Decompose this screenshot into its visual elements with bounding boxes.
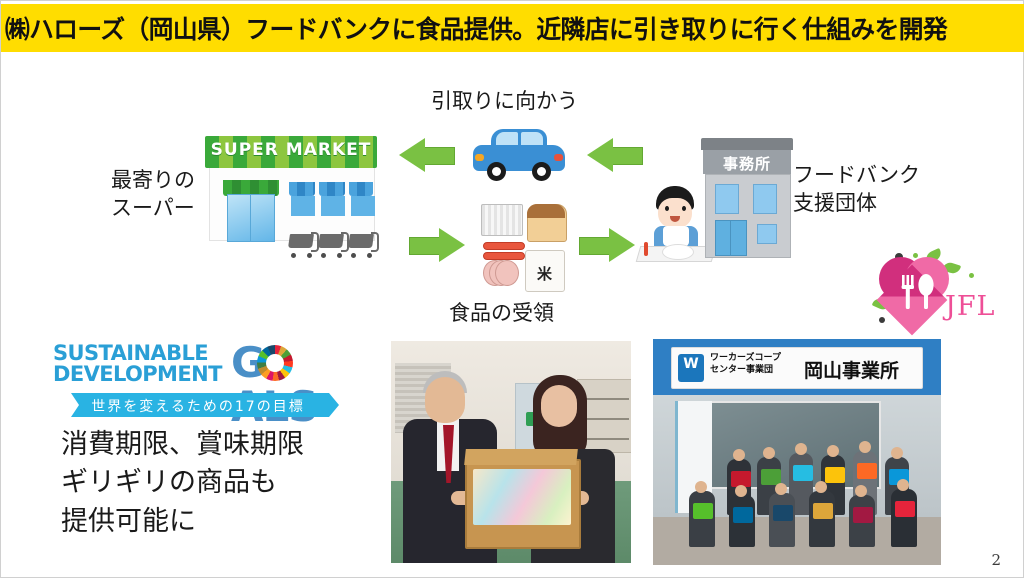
diagram-label-foodbank: フードバンク 支援団体: [793, 161, 920, 218]
heart-icon: [879, 257, 953, 323]
ham-slices-icon: [483, 260, 519, 286]
photo-handover-alt: 段ボール箱に入った食品を手渡す男性と女性: [391, 547, 631, 560]
photo-group: W ワーカーズコープ センター事業団 岡山事業所: [653, 339, 941, 565]
sdgs-tagline: 世界を変えるための17の目標: [71, 396, 325, 416]
supermarket-window-3: [351, 196, 375, 216]
diagram-label-haul: 引取りに向かう: [431, 87, 578, 115]
rice-bag-icon: 米: [525, 250, 565, 292]
photo-group-building-sign: W ワーカーズコープ センター事業団 岡山事業所: [671, 347, 923, 389]
office-window-2: [753, 184, 777, 214]
sdgs-tagline-banner: 世界を変えるための17の目標: [71, 393, 339, 417]
office-building-illustration: 事務所: [701, 138, 793, 256]
awning-window-3: [349, 182, 373, 196]
sdgs-line-2: DEVELOPMENT: [53, 364, 222, 385]
supermarket-window-2: [321, 196, 345, 216]
shopping-cart-icon: [347, 232, 375, 258]
arrow-right-to-foodbank: [579, 228, 635, 262]
arrow-left-from-foodbank: [587, 138, 643, 172]
awning-window-1: [289, 182, 315, 196]
shopping-cart-icon: [287, 232, 315, 258]
diagram-label-receive: 食品の受領: [449, 299, 554, 327]
workers-coop-logo: W: [678, 354, 704, 382]
dot-decoration: [969, 273, 974, 278]
jfl-logo-text: JFL: [945, 291, 996, 322]
arrow-right-from-supermarket: [409, 228, 465, 262]
office-sign-label: 事務所: [703, 153, 791, 174]
flow-diagram: 引取りに向かう 最寄りの スーパー フードバンク 支援団体 食品の受領 SUPE…: [1, 56, 1024, 341]
office-window-3: [757, 224, 777, 244]
awning-window-2: [319, 182, 345, 196]
sausage-icon: [483, 242, 525, 250]
bread-loaf-icon: [527, 204, 567, 242]
shopping-cart-icon: [317, 232, 345, 258]
food-items-illustration: 米: [481, 204, 565, 292]
fork-spoon-icon: [879, 257, 953, 323]
diagram-label-supermarket: 最寄りの スーパー: [111, 166, 195, 223]
office-door: [715, 220, 747, 256]
supermarket-sign: SUPER MARKET: [205, 136, 377, 168]
supermarket-sign-label: SUPER MARKET: [205, 140, 377, 160]
bottom-caption: 消費期限、賞味期限 ギリギリの商品も 提供可能に: [61, 426, 304, 541]
title-banner: ㈱ハローズ（岡山県）フードバンクに食品提供。近隣店に引き取りに行く仕組みを開発: [1, 4, 1024, 52]
sdgs-color-wheel-icon: [257, 345, 293, 381]
rice-bag-glyph: 米: [537, 263, 552, 284]
packaged-tray-icon: [481, 204, 523, 236]
supermarket-window-1: [291, 196, 315, 216]
page-number: 2: [991, 551, 1001, 569]
photo-group-alt: 岡山事業所前でSDGsカードを持つ集合写真: [653, 549, 941, 562]
slide-canvas: ㈱ハローズ（岡山県）フードバンクに食品提供。近隣店に引き取りに行く仕組みを開発 …: [0, 0, 1024, 578]
building-sign-large-text: 岡山事業所: [804, 356, 899, 383]
supermarket-illustration: SUPER MARKET: [201, 136, 381, 256]
photo-handover: 段ボール箱に入った食品を手渡す男性と女性: [391, 341, 631, 563]
building-sign-small-text: ワーカーズコープ センター事業団: [710, 352, 781, 376]
supermarket-door: [227, 194, 275, 242]
page-title: ㈱ハローズ（岡山県）フードバンクに食品提供。近隣店に引き取りに行く仕組みを開発: [1, 10, 947, 46]
office-window-1: [715, 184, 739, 214]
sdgs-wordmark: SUSTAINABLE DEVELOPMENT: [53, 343, 222, 385]
jfl-logo: JFL: [873, 251, 1001, 333]
sdgs-line-1: SUSTAINABLE: [53, 343, 222, 364]
sdgs-logo: SUSTAINABLE DEVELOPMENT G ALS 世界を変えるための1…: [53, 341, 353, 419]
delivery-car-icon: [473, 129, 565, 181]
office-sign: 事務所: [703, 150, 791, 174]
sausage-icon: [483, 252, 525, 260]
arrow-left-to-supermarket: [399, 138, 455, 172]
